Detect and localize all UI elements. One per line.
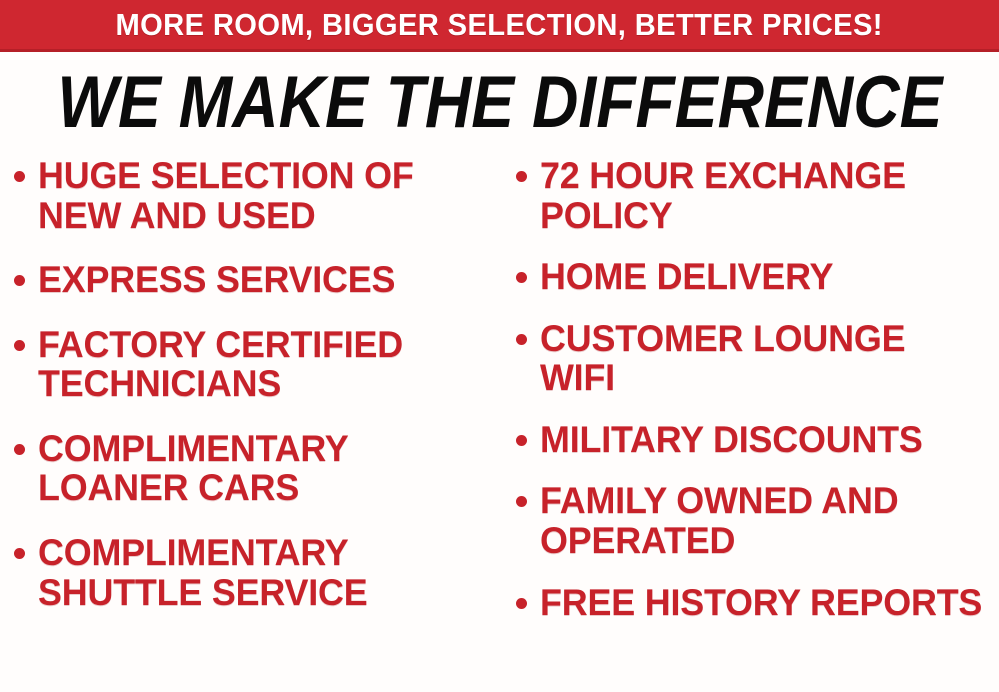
- list-item: 72 HOUR EXCHANGE POLICY: [516, 156, 999, 235]
- list-item-label: MILITARY DISCOUNTS: [540, 420, 923, 460]
- list-item: FACTORY CERTIFIED TECHNICIANS: [14, 325, 500, 404]
- list-item-label: HUGE SELECTION OF NEW AND USED: [38, 156, 486, 235]
- bullet-dot-icon: [14, 171, 25, 182]
- list-item-label: FACTORY CERTIFIED TECHNICIANS: [38, 325, 486, 404]
- benefits-columns: HUGE SELECTION OF NEW AND USED EXPRESS S…: [0, 156, 999, 692]
- list-item-label: 72 HOUR EXCHANGE POLICY: [540, 156, 985, 235]
- list-item: MILITARY DISCOUNTS: [516, 420, 999, 460]
- bullet-dot-icon: [14, 340, 25, 351]
- bullet-dot-icon: [516, 435, 527, 446]
- banner-headline-text: MORE ROOM, BIGGER SELECTION, BETTER PRIC…: [116, 9, 883, 40]
- list-item-label: COMPLIMENTARY SHUTTLE SERVICE: [38, 533, 486, 612]
- bullet-dot-icon: [516, 272, 527, 283]
- main-headline: WE MAKE THE DIFFERENCE: [57, 66, 942, 139]
- benefits-column-left: HUGE SELECTION OF NEW AND USED EXPRESS S…: [0, 156, 500, 692]
- list-item-label: COMPLIMENTARY LOANER CARS: [38, 429, 486, 508]
- bullet-dot-icon: [14, 444, 25, 455]
- list-item: COMPLIMENTARY SHUTTLE SERVICE: [14, 533, 500, 612]
- list-item: EXPRESS SERVICES: [14, 260, 500, 300]
- benefits-column-right: 72 HOUR EXCHANGE POLICY HOME DELIVERY CU…: [500, 156, 999, 692]
- list-item: FAMILY OWNED AND OPERATED: [516, 481, 999, 560]
- dealership-promo-banner: MORE ROOM, BIGGER SELECTION, BETTER PRIC…: [0, 0, 999, 692]
- bullet-dot-icon: [516, 496, 527, 507]
- list-item-label: FREE HISTORY REPORTS: [540, 583, 982, 623]
- list-item: COMPLIMENTARY LOANER CARS: [14, 429, 500, 508]
- list-item: HUGE SELECTION OF NEW AND USED: [14, 156, 500, 235]
- bullet-dot-icon: [516, 171, 527, 182]
- main-headline-container: WE MAKE THE DIFFERENCE: [0, 62, 999, 142]
- bullet-dot-icon: [516, 334, 527, 345]
- list-item-label: CUSTOMER LOUNGE WIFI: [540, 319, 985, 398]
- list-item: HOME DELIVERY: [516, 257, 999, 297]
- list-item: CUSTOMER LOUNGE WIFI: [516, 319, 999, 398]
- list-item: FREE HISTORY REPORTS: [516, 583, 999, 623]
- bullet-dot-icon: [14, 275, 25, 286]
- list-item-label: HOME DELIVERY: [540, 257, 833, 297]
- bullet-dot-icon: [516, 598, 527, 609]
- list-item-label: FAMILY OWNED AND OPERATED: [540, 481, 985, 560]
- bullet-dot-icon: [14, 548, 25, 559]
- list-item-label: EXPRESS SERVICES: [38, 260, 395, 300]
- top-banner: MORE ROOM, BIGGER SELECTION, BETTER PRIC…: [0, 0, 999, 52]
